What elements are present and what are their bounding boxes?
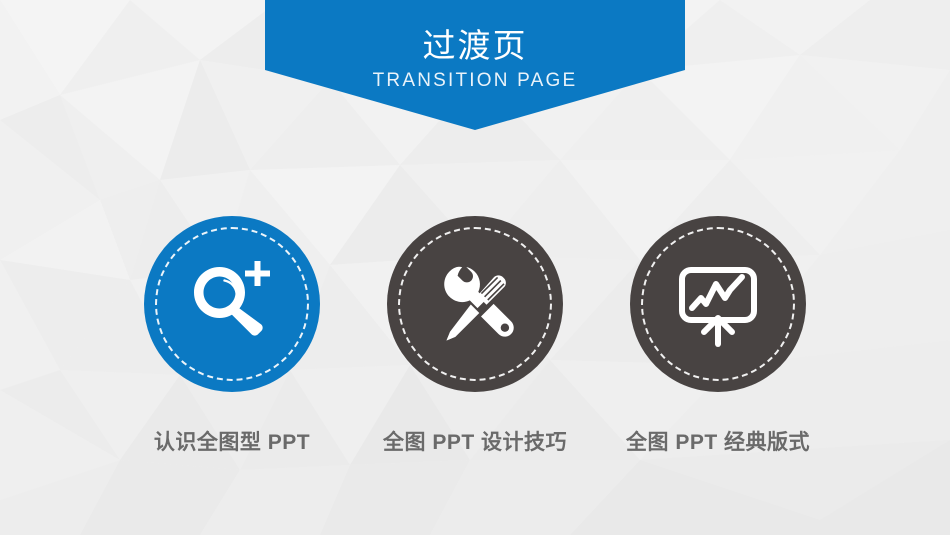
icon-circles-row bbox=[0, 216, 950, 394]
magnifier-plus-icon bbox=[182, 254, 282, 354]
chart-board-arrow-up-icon bbox=[668, 254, 768, 354]
feature-labels-row: 认识全图型 PPT 全图 PPT 设计技巧 全图 PPT 经典版式 bbox=[0, 428, 950, 462]
transition-banner: 过渡页 TRANSITION PAGE bbox=[0, 0, 950, 140]
feature-circle-3[interactable] bbox=[630, 216, 806, 392]
feature-label-1: 认识全图型 PPT bbox=[102, 428, 362, 458]
feature-circle-2[interactable] bbox=[387, 216, 563, 392]
feature-label-2: 全图 PPT 设计技巧 bbox=[345, 428, 605, 458]
banner-chevron-shape bbox=[0, 0, 950, 140]
feature-circle-1[interactable] bbox=[144, 216, 320, 392]
wrench-screwdriver-icon bbox=[425, 254, 525, 354]
slide-canvas: 过渡页 TRANSITION PAGE bbox=[0, 0, 950, 535]
feature-label-3: 全图 PPT 经典版式 bbox=[588, 428, 848, 458]
